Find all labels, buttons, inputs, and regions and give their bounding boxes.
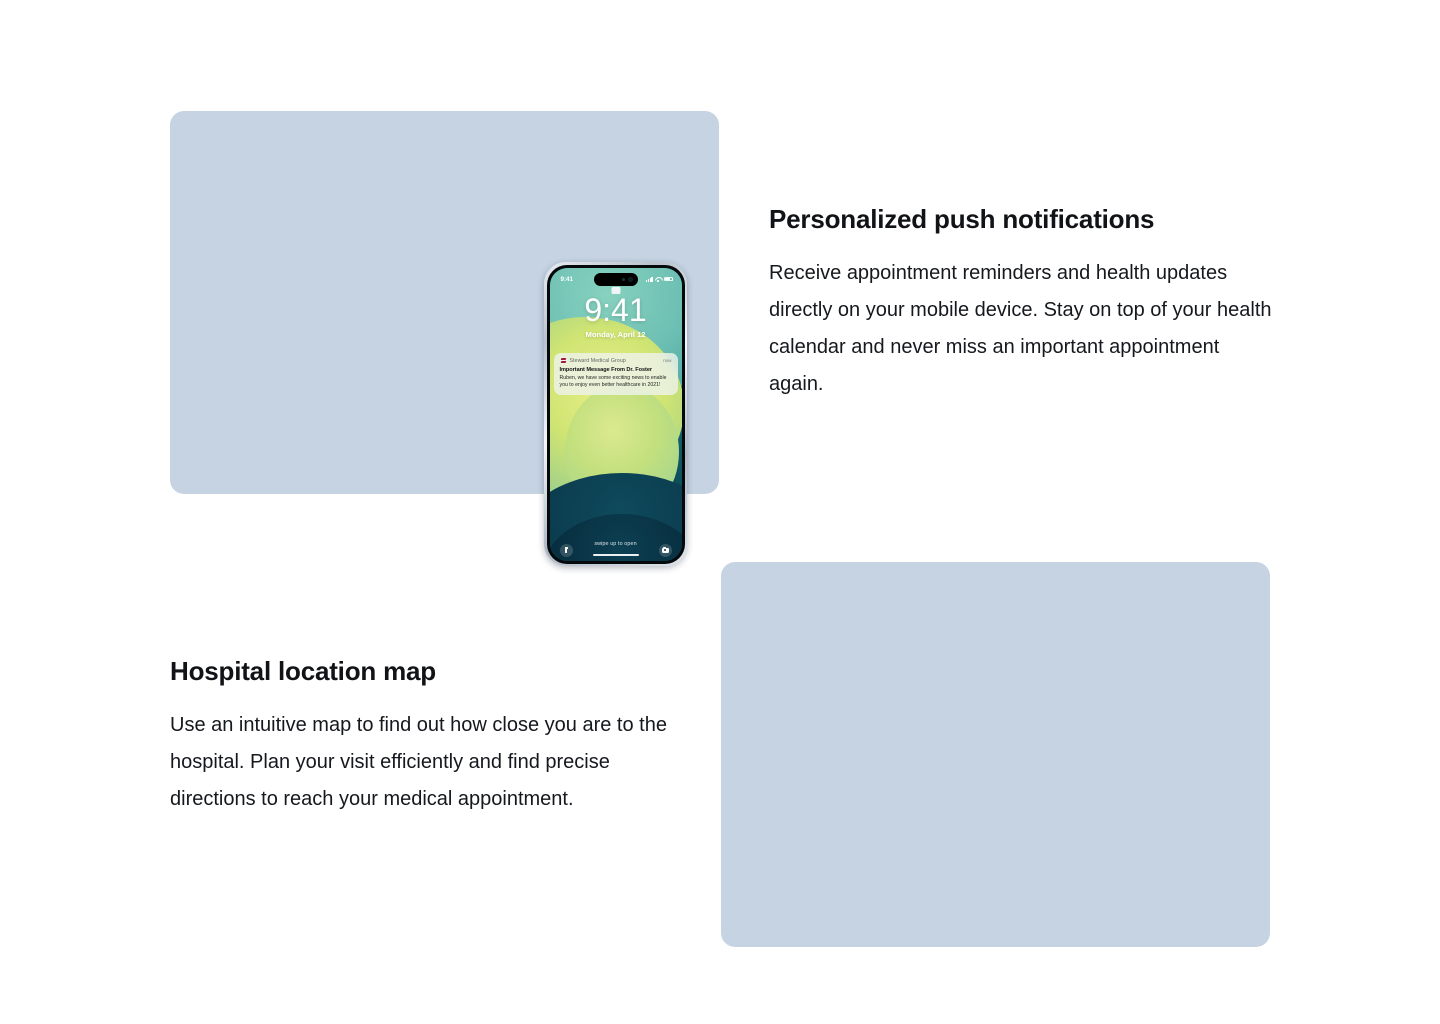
steward-app-icon <box>560 357 567 364</box>
wifi-icon <box>655 277 661 282</box>
notification-timestamp: now <box>663 358 671 363</box>
feature-body-map: Use an intuitive map to find out how clo… <box>170 707 680 818</box>
lockscreen-time: 9:41 <box>550 294 682 326</box>
notch-highlight <box>611 287 620 294</box>
dynamic-island <box>594 273 638 286</box>
lockscreen-date: Monday, April 12 <box>550 330 682 339</box>
feature-title-map: Hospital location map <box>170 656 680 687</box>
notification-app-name: Steward Medical Group <box>570 358 626 364</box>
feature-card-push-notifications: 9:41 9:41 <box>170 111 719 494</box>
notification-header: Steward Medical Group now <box>560 357 672 364</box>
feature-body-push: Receive appointment reminders and health… <box>769 255 1279 403</box>
phone-screen-lockscreen[interactable]: 9:41 9:41 <box>550 268 682 561</box>
notification-title: Important Message From Dr. Foster <box>560 367 672 373</box>
swipe-up-hint: swipe up to open <box>550 541 682 547</box>
battery-icon <box>664 277 673 282</box>
cellular-signal-icon <box>646 277 652 282</box>
feature-text-hospital-map: Hospital location map Use an intuitive m… <box>170 656 680 818</box>
phone-frame: 9:41 9:41 <box>544 262 687 566</box>
notification-body: Ruben, we have some exciting news to ena… <box>560 375 672 390</box>
page-root: 9:41 9:41 <box>0 0 1440 1024</box>
phone-mockup-lockscreen: 9:41 9:41 <box>544 262 687 566</box>
phone-bezel: 9:41 9:41 <box>547 265 685 564</box>
status-bar-time: 9:41 <box>561 276 573 283</box>
feature-text-push-notifications: Personalized push notifications Receive … <box>769 204 1279 403</box>
lockscreen-clock: 9:41 Monday, April 12 <box>550 294 682 339</box>
push-notification-card[interactable]: Steward Medical Group now Important Mess… <box>554 353 678 396</box>
feature-title-push: Personalized push notifications <box>769 204 1279 235</box>
feature-card-hospital-map: Steward Lane Dowlais Rd Bridgeside Dowla… <box>721 562 1270 947</box>
